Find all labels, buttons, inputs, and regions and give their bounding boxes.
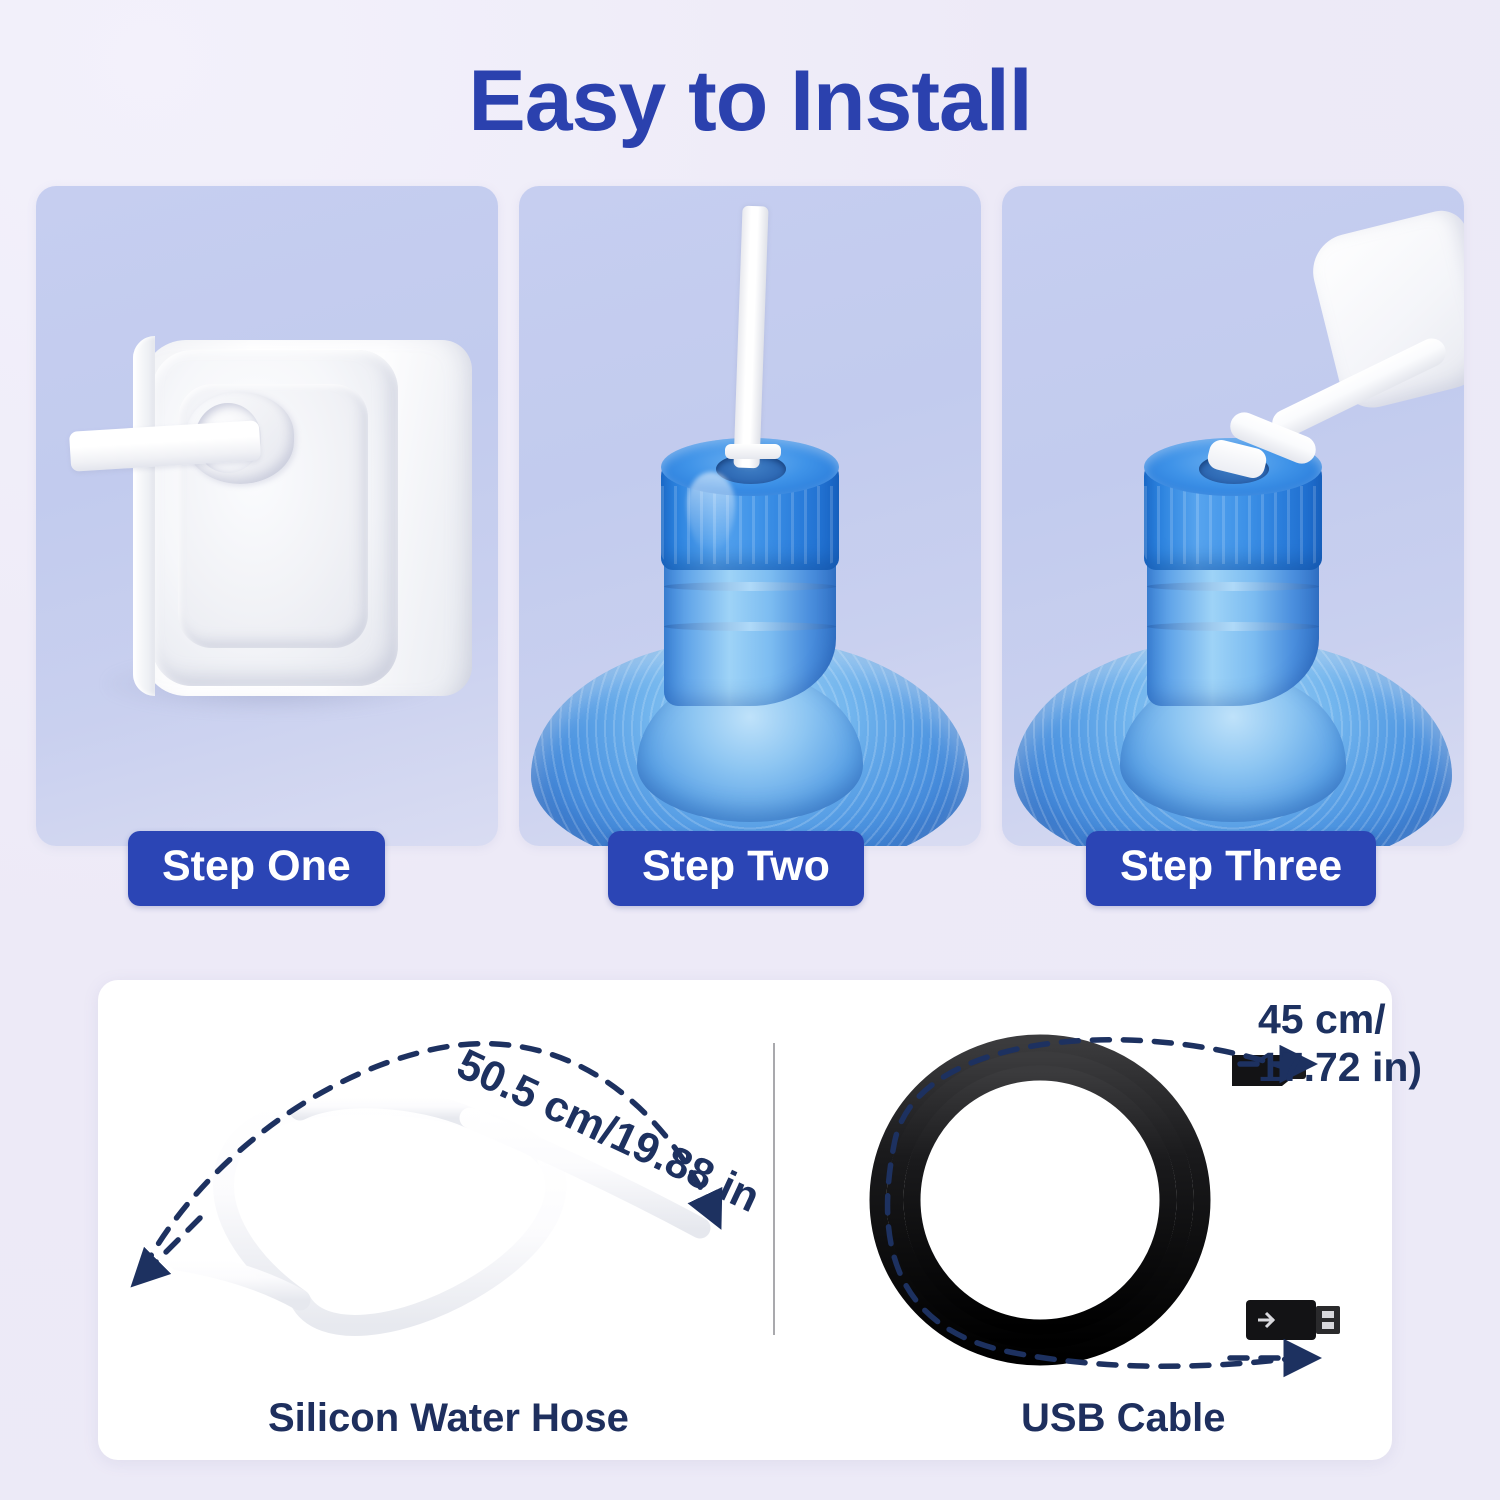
bottle-neck-ring: [664, 582, 836, 591]
bottle-neck-ring: [664, 622, 836, 631]
usb-dimension-line-1: 45 cm/: [1258, 995, 1422, 1043]
steps-row: [0, 186, 1500, 846]
bottle-scene: [1002, 186, 1464, 846]
dispenser-body: [142, 340, 472, 696]
step-panel-one: [36, 186, 498, 846]
page-title: Easy to Install: [0, 52, 1500, 151]
hose-collar: [725, 444, 781, 459]
bottle-neck-ring: [1147, 622, 1319, 631]
hose-caption: Silicon Water Hose: [268, 1396, 629, 1441]
infographic-page: Easy to Install: [0, 0, 1500, 1500]
dispenser-face: [152, 350, 398, 686]
dispenser-rim: [133, 336, 155, 696]
usb-dimension-line-2: 17.72 in): [1258, 1043, 1422, 1091]
accessories-divider: [773, 1043, 775, 1335]
bottle-cap-ridges: [1144, 486, 1322, 564]
step-panel-two: [519, 186, 981, 846]
step-badge-three: Step Three: [1086, 831, 1376, 906]
step-badge-one: Step One: [128, 831, 385, 906]
silicone-hose-vertical: [733, 206, 768, 469]
usb-dimension-label: 45 cm/ 17.72 in): [1258, 995, 1422, 1092]
step-panel-three: [1002, 186, 1464, 846]
bottle-neck-ring: [1147, 582, 1319, 591]
usb-cable-caption: USB Cable: [1021, 1396, 1226, 1441]
step-badge-two: Step Two: [608, 831, 864, 906]
bottle-scene: [519, 186, 981, 846]
